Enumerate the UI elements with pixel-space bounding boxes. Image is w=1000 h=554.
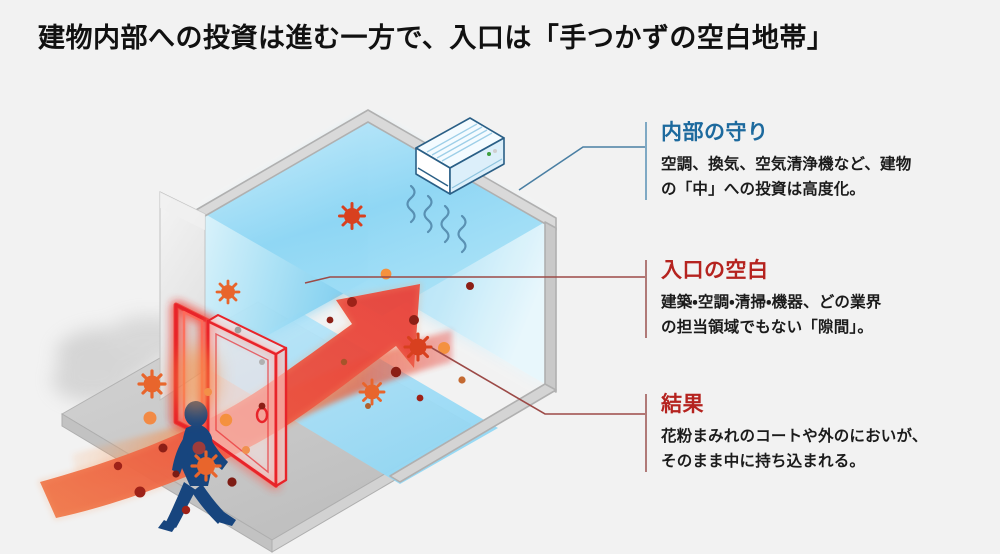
annotation-body-line: 花粉まみれのコートや外のにおいが、 <box>661 428 928 445</box>
annotation-body-line: 建築・空調・清掃・機器、どの業界 <box>661 294 882 311</box>
accent-bar-interior-defense <box>645 122 647 200</box>
annotation-body-line: の「中」への投資は高度化。 <box>661 181 865 198</box>
annotation-interior-defense: 内部の守り 空調、換気、空気清浄機など、建物の「中」への投資は高度化。 <box>645 120 975 202</box>
annotation-body-line: 空調、換気、空気清浄機など、建物 <box>661 156 911 173</box>
annotation-heading-result: 結果 <box>661 392 975 417</box>
annotation-body-entrance-gap: 建築・空調・清掃・機器、どの業界の担当領域でもない「隙間」。 <box>661 290 975 340</box>
threshold-glow <box>174 346 218 414</box>
annotation-entrance-gap: 入口の空白 建築・空調・清掃・機器、どの業界の担当領域でもない「隙間」。 <box>645 258 975 340</box>
annotation-result: 結果 花粉まみれのコートや外のにおいが、そのまま中に持ち込まれる。 <box>645 392 975 474</box>
annotation-body-result: 花粉まみれのコートや外のにおいが、そのまま中に持ち込まれる。 <box>661 424 975 474</box>
annotation-body-line: の担当領域でもない「隙間」。 <box>661 319 873 336</box>
particle-on-coat <box>193 442 206 455</box>
annotation-heading-interior-defense: 内部の守り <box>661 120 975 145</box>
annotation-body-interior-defense: 空調、換気、空気清浄機など、建物の「中」への投資は高度化。 <box>661 152 975 202</box>
isometric-room-illustration <box>0 62 660 554</box>
annotation-body-line: そのまま中に持ち込まれる。 <box>661 453 865 470</box>
accent-bar-entrance-gap <box>645 260 647 338</box>
infographic-page: 建物内部への投資は進む一方で、入口は「手つかずの空白地帯」 <box>0 0 1000 554</box>
accent-bar-result <box>645 394 647 472</box>
annotation-heading-entrance-gap: 入口の空白 <box>661 258 975 283</box>
page-title: 建物内部への投資は進む一方で、入口は「手つかずの空白地帯」 <box>38 22 958 56</box>
